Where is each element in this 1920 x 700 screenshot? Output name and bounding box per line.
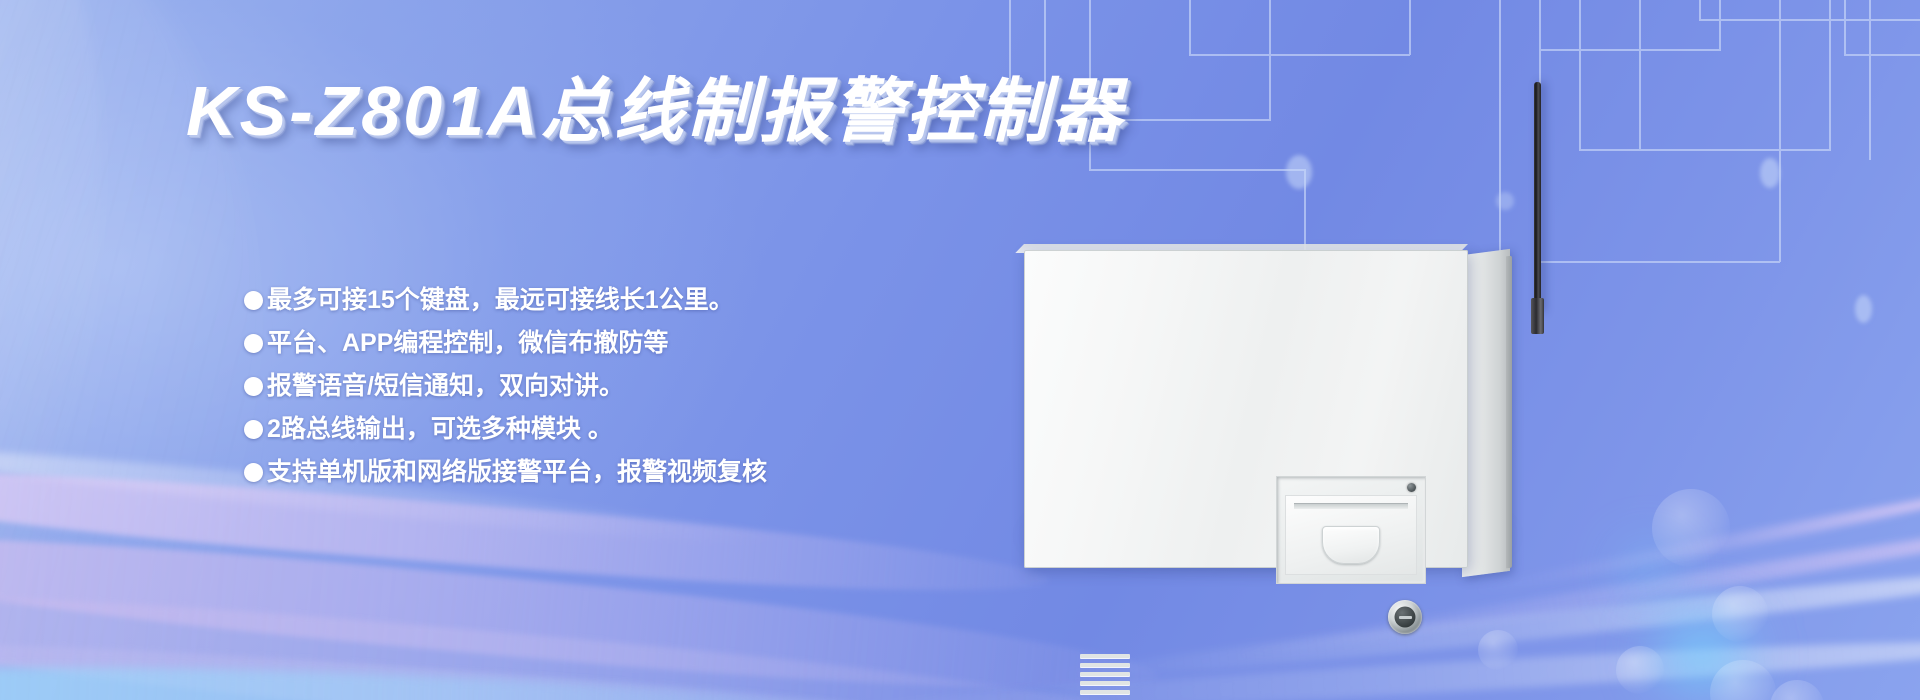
enclosure-side-edge: [1506, 256, 1512, 569]
antenna-base: [1531, 298, 1544, 334]
enclosure-side-panel: [1462, 249, 1510, 577]
list-item: 最多可接15个键盘，最远可接线长1公里。: [244, 288, 767, 313]
list-item-label: 支持单机版和网络版接警平台，报警视频复核: [267, 460, 767, 485]
list-item: 报警语音/短信通知，双向对讲。: [244, 374, 767, 399]
list-item-label: 2路总线输出，可选多种模块 。: [267, 417, 613, 442]
list-item-label: 报警语音/短信通知，双向对讲。: [267, 374, 624, 399]
vent-slat: [1080, 654, 1130, 658]
vent-slat: [1080, 663, 1130, 667]
product-image: [1010, 60, 1570, 670]
list-item-label: 平台、APP编程控制，微信布撤防等: [267, 331, 668, 356]
list-item: 2路总线输出，可选多种模块 。: [244, 417, 767, 442]
list-item-label: 最多可接15个键盘，最远可接线长1公里。: [267, 288, 734, 313]
status-indicator-icon: [1407, 483, 1416, 492]
bullet-dot-icon: [244, 291, 263, 310]
enclosure-front-door: [1024, 250, 1468, 568]
list-item: 支持单机版和网络版接警平台，报警视频复核: [244, 460, 767, 485]
vent-slat: [1080, 672, 1130, 676]
feature-list: 最多可接15个键盘，最远可接线长1公里。 平台、APP编程控制，微信布撤防等 报…: [244, 288, 767, 503]
recessed-keypad-panel: [1276, 476, 1426, 584]
key-lock-slot: [1399, 616, 1412, 619]
panel-slot: [1294, 503, 1408, 509]
list-item: 平台、APP编程控制，微信布撤防等: [244, 331, 767, 356]
door-handle: [1322, 526, 1380, 564]
vent-slat: [1080, 681, 1130, 685]
bullet-dot-icon: [244, 420, 263, 439]
product-banner: KS-Z801A总线制报警控制器 最多可接15个键盘，最远可接线长1公里。 平台…: [0, 0, 1920, 700]
antenna-icon: [1534, 82, 1541, 312]
key-lock-icon: [1388, 600, 1422, 634]
ventilation-slots: [1080, 654, 1130, 699]
bullet-dot-icon: [244, 334, 263, 353]
bullet-dot-icon: [244, 463, 263, 482]
key-lock-core: [1395, 607, 1416, 628]
bullet-dot-icon: [244, 377, 263, 396]
page-title: KS-Z801A总线制报警控制器: [186, 76, 1125, 146]
keypad-panel-inner: [1285, 495, 1417, 575]
vent-slat: [1080, 690, 1130, 694]
